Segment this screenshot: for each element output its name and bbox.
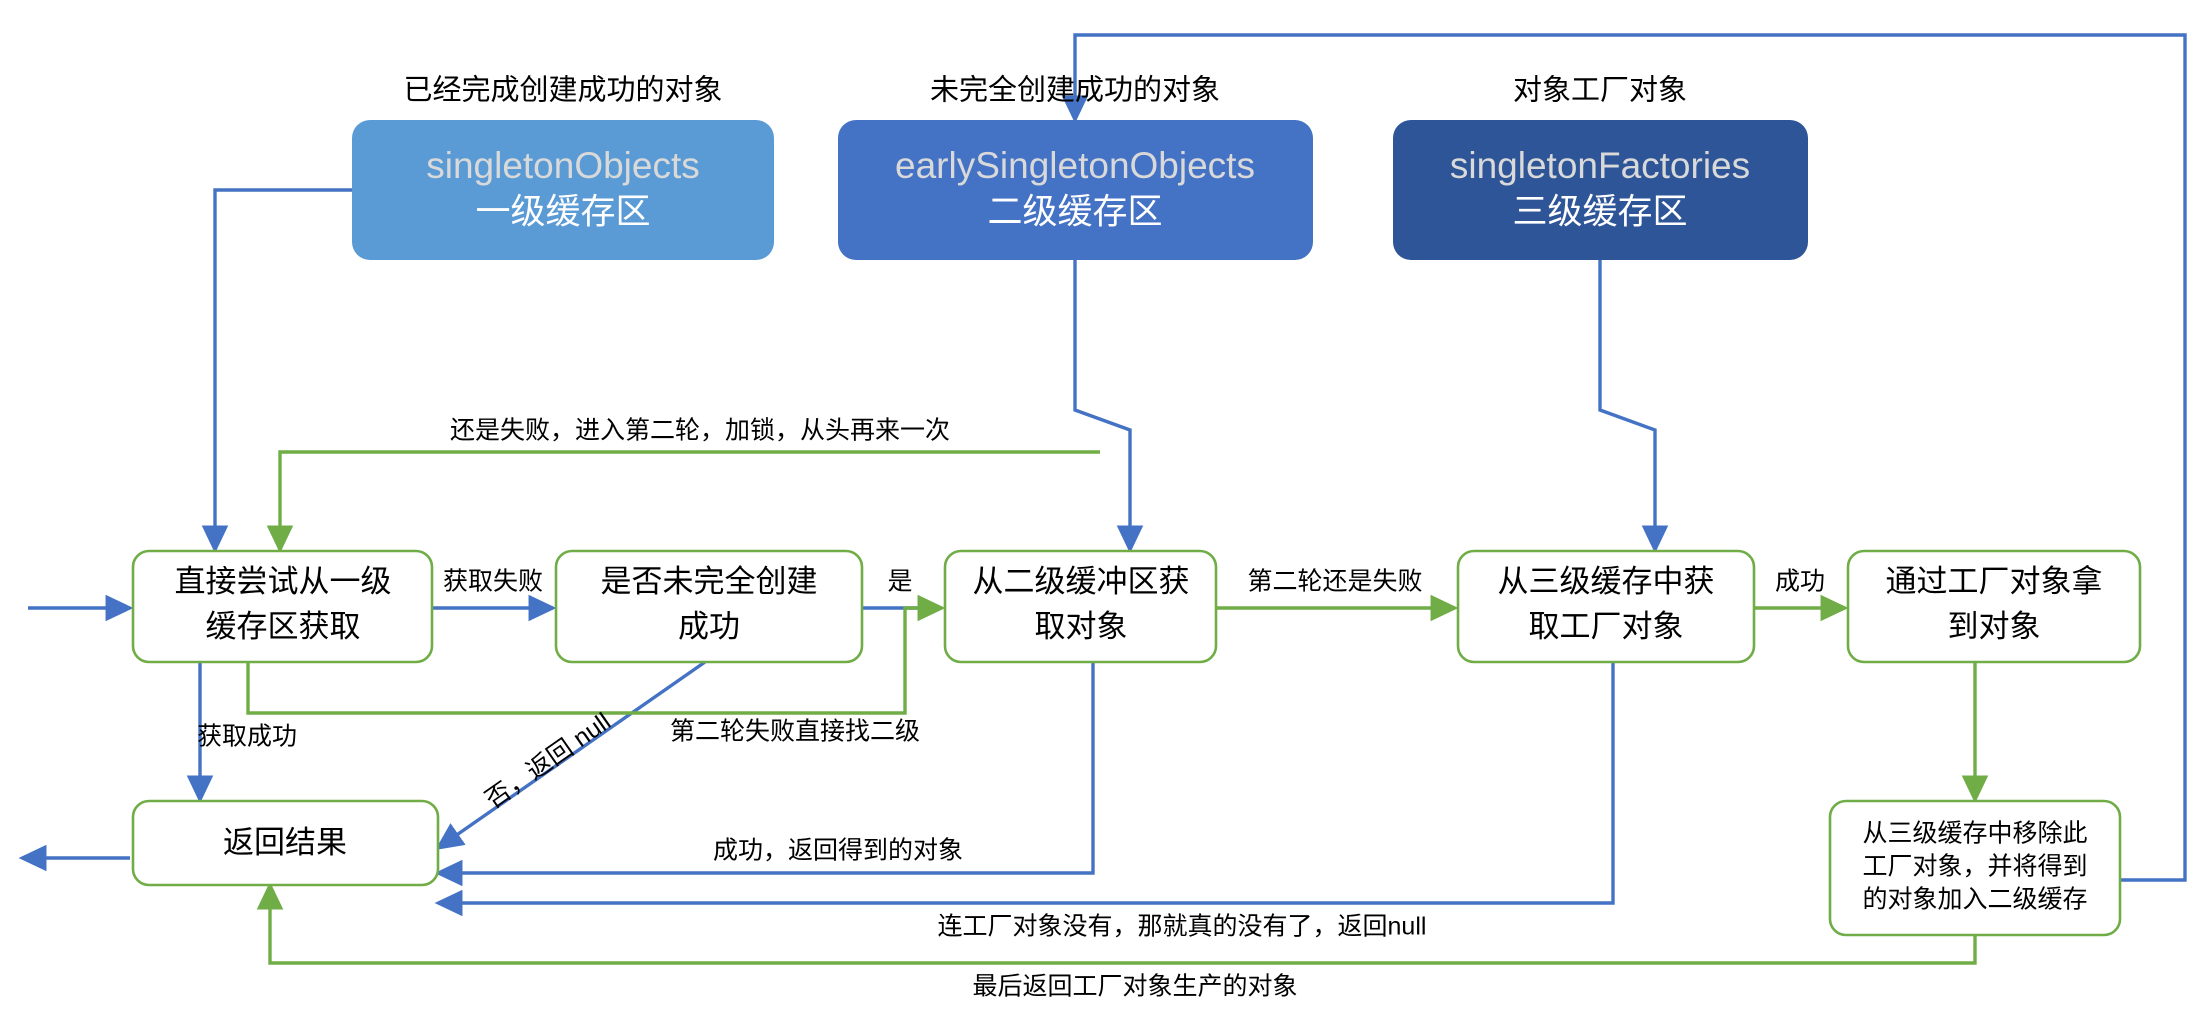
cache-box-singleton-objects[interactable]: 已经完成创建成功的对象 singletonObjects 一级缓存区: [352, 74, 774, 260]
process-box-get-factory-from-l3-cache[interactable]: 从三级缓存中获 取工厂对象: [1458, 551, 1754, 662]
cache-cn-3: 三级缓存区: [1512, 192, 1687, 231]
edge-cache1-to-p1: [215, 190, 352, 550]
process-box-create-via-factory[interactable]: 通过工厂对象拿 到对象: [1848, 551, 2140, 662]
edge-label-no-null: 否，返回 null: [480, 708, 616, 815]
process-p2-line1: 是否未完全创建: [601, 564, 818, 599]
process-p7-line1: 从三级缓存中移除此: [1862, 820, 2087, 848]
edge-label-success: 成功: [1775, 568, 1825, 596]
edge-label-retry: 还是失败，进入第二轮，加锁，从头再来一次: [450, 417, 950, 445]
process-p5-line1: 通过工厂对象拿: [1886, 564, 2103, 599]
process-p5-line2: 到对象: [1948, 609, 2041, 644]
process-p7-line3: 的对象加入二级缓存: [1862, 886, 2087, 914]
process-box-try-l1-cache[interactable]: 直接尝试从一级 缓存区获取: [133, 551, 432, 662]
edge-label-round2-to-l2: 第二轮失败直接找二级: [670, 718, 920, 746]
cache-en-3: singletonFactories: [1450, 145, 1750, 186]
cache-rect-3[interactable]: [1393, 120, 1808, 260]
edge-cache3-to-p4: [1600, 260, 1655, 550]
process-p3-line2: 取对象: [1035, 609, 1128, 644]
cache-en-2: earlySingletonObjects: [895, 145, 1255, 186]
flowchart-svg: 已经完成创建成功的对象 singletonObjects 一级缓存区 未完全创建…: [0, 0, 2210, 1029]
cache-box-singleton-factories[interactable]: 对象工厂对象 singletonFactories 三级缓存区: [1393, 74, 1808, 260]
process-p1-line1: 直接尝试从一级: [175, 564, 392, 599]
process-box-move-factory-obj-to-l2[interactable]: 从三级缓存中移除此 工厂对象，并将得到 的对象加入二级缓存: [1830, 801, 2120, 935]
process-p7-line2: 工厂对象，并将得到: [1862, 853, 2087, 881]
edge-label-get-success: 获取成功: [197, 723, 297, 751]
cache-cn-1: 一级缓存区: [475, 192, 650, 231]
edge-label-no-factory-null: 连工厂对象没有，那就真的没有了，返回null: [938, 913, 1427, 941]
edge-p4-to-p6: [438, 662, 1613, 903]
process-p4-line2: 取工厂对象: [1529, 609, 1684, 644]
cache-caption-1: 已经完成创建成功的对象: [403, 74, 722, 107]
process-p4-line1: 从三级缓存中获: [1498, 564, 1715, 599]
process-p3-line1: 从二级缓冲区获: [973, 564, 1190, 599]
process-p2-line2: 成功: [678, 609, 740, 644]
edge-label-round2-fail: 第二轮还是失败: [1247, 568, 1422, 596]
process-p1-line2: 缓存区获取: [206, 609, 361, 644]
edge-label-final-return: 最后返回工厂对象生产的对象: [972, 973, 1297, 1001]
cache-cn-2: 二级缓存区: [987, 192, 1162, 231]
edge-retry-loop-to-p1: [280, 452, 1100, 550]
edge-label-get-fail: 获取失败: [443, 568, 543, 596]
edge-label-success-return-obj: 成功，返回得到的对象: [713, 837, 963, 865]
cache-box-early-singleton-objects[interactable]: 未完全创建成功的对象 earlySingletonObjects 二级缓存区: [838, 74, 1313, 260]
process-box-is-partially-created[interactable]: 是否未完全创建 成功: [556, 551, 862, 662]
process-p6-line1: 返回结果: [223, 825, 347, 860]
cache-rect-2[interactable]: [838, 120, 1313, 260]
cache-en-1: singletonObjects: [426, 145, 700, 186]
cache-caption-3: 对象工厂对象: [1513, 74, 1687, 107]
edge-cache2-to-p3: [1075, 260, 1130, 550]
flowchart-canvas: 已经完成创建成功的对象 singletonObjects 一级缓存区 未完全创建…: [0, 0, 2210, 1029]
cache-caption-2: 未完全创建成功的对象: [930, 74, 1220, 107]
process-box-get-from-l2-cache[interactable]: 从二级缓冲区获 取对象: [945, 551, 1216, 662]
cache-rect-1[interactable]: [352, 120, 774, 260]
edge-label-yes: 是: [887, 568, 912, 596]
process-box-return-result[interactable]: 返回结果: [133, 801, 438, 885]
